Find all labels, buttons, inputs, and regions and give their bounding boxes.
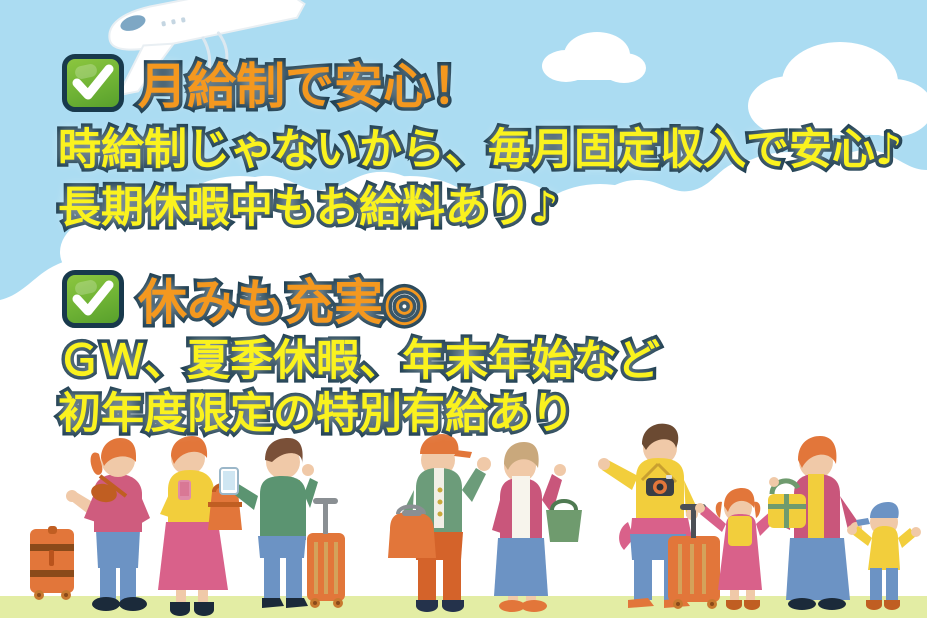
green-check-box-icon (62, 54, 124, 112)
block-2-line-2: 初年度限定の特別有給あり (58, 379, 574, 441)
block-2-heading-row: 休みも充実◎ (62, 263, 426, 334)
block-1-line-2: 長期休暇中もお給料あり♪ (58, 173, 558, 235)
green-check-box-icon (62, 270, 124, 328)
block-1-heading-row: 月給制で安心！ (62, 47, 481, 118)
block-1-line-1: 時給制じゃないから、毎月固定収入で安心♪ (58, 115, 902, 177)
block-2-heading: 休みも充実◎ (138, 263, 426, 334)
text-content: 月給制で安心！ 時給制じゃないから、毎月固定収入で安心♪ 長期休暇中もお給料あり… (0, 0, 927, 618)
block-1-heading: 月給制で安心！ (138, 47, 481, 118)
poster-root: 月給制で安心！ 時給制じゃないから、毎月固定収入で安心♪ 長期休暇中もお給料あり… (0, 0, 927, 618)
